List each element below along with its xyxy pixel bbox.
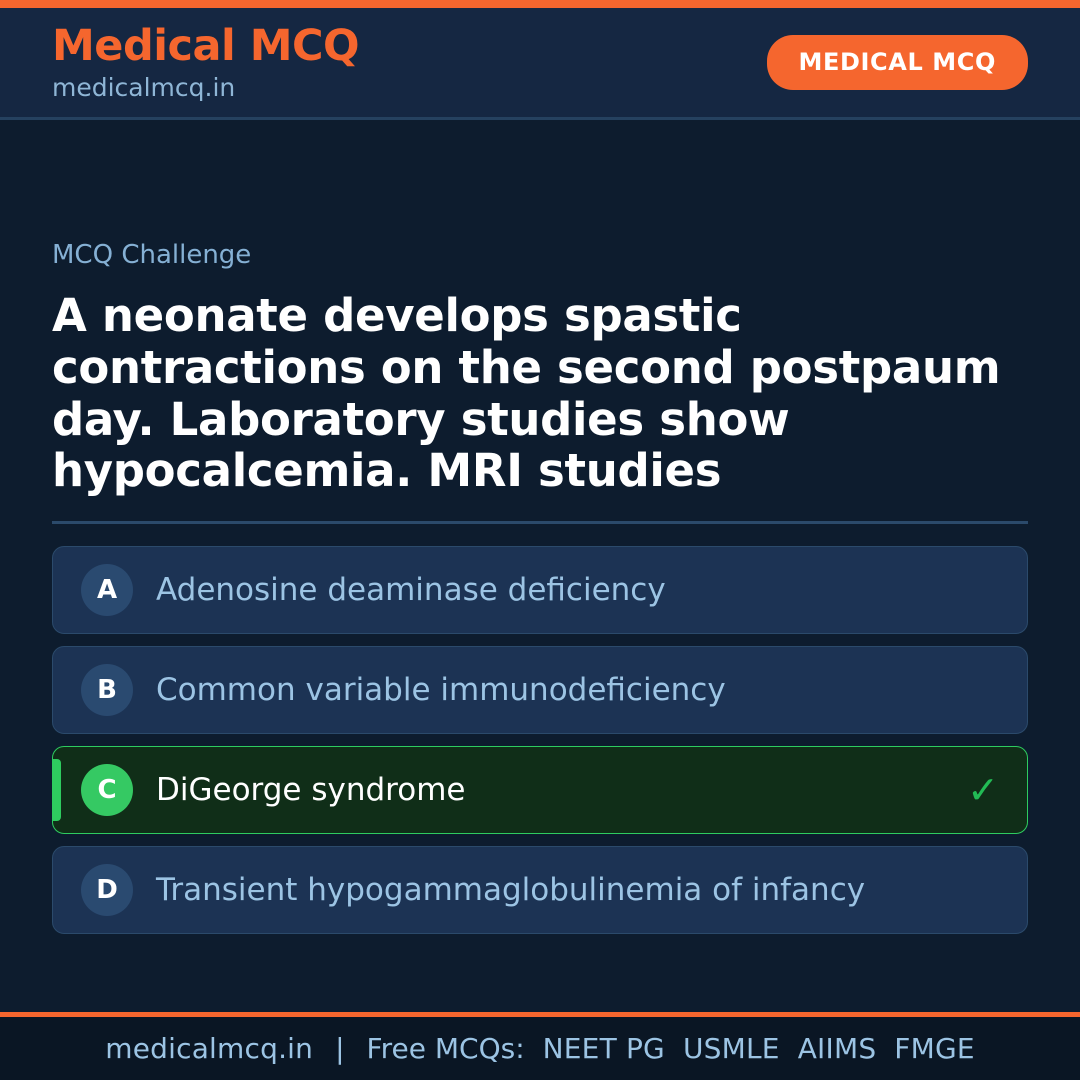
footer-separator: | (313, 1032, 366, 1065)
brand-url: medicalmcq.in (52, 75, 359, 100)
options-list: A Adenosine deaminase deficiency B Commo… (52, 546, 1028, 934)
footer-site[interactable]: medicalmcq.in (105, 1032, 313, 1065)
option-d[interactable]: D Transient hypogammaglobulinemia of inf… (52, 846, 1028, 934)
option-label: Transient hypogammaglobulinemia of infan… (156, 873, 865, 907)
footer-exam-list: NEET PG USMLE AIIMS FMGE (543, 1032, 975, 1065)
footer-exam-usmle: USMLE (683, 1032, 780, 1065)
brand-title: Medical MCQ (52, 25, 359, 68)
option-b[interactable]: B Common variable immunodeficiency (52, 646, 1028, 734)
check-icon: ✓ (967, 771, 999, 809)
brand-block: Medical MCQ medicalmcq.in (52, 25, 359, 100)
footer-exam-neet-pg: NEET PG (543, 1032, 665, 1065)
header: Medical MCQ medicalmcq.in MEDICAL MCQ (0, 8, 1080, 120)
question-text: A neonate develops spastic contractions … (52, 290, 1028, 497)
option-letter-badge: D (81, 864, 133, 916)
option-letter-badge: A (81, 564, 133, 616)
option-c[interactable]: C DiGeorge syndrome ✓ (52, 746, 1028, 834)
footer: medicalmcq.in | Free MCQs: NEET PG USMLE… (0, 1017, 1080, 1080)
option-label: Common variable immunodeficiency (156, 673, 726, 707)
option-letter-badge: B (81, 664, 133, 716)
main-content: MCQ Challenge A neonate develops spastic… (0, 120, 1080, 1012)
correct-accent-bar (53, 759, 61, 821)
option-label: DiGeorge syndrome (156, 773, 465, 807)
mcq-card: Medical MCQ medicalmcq.in MEDICAL MCQ MC… (0, 0, 1080, 1080)
footer-label: Free MCQs: (367, 1032, 525, 1065)
option-letter-badge: C (81, 764, 133, 816)
question-divider (52, 521, 1028, 524)
footer-exam-aiims: AIIMS (798, 1032, 877, 1065)
top-accent-bar (0, 0, 1080, 8)
footer-exam-fmge: FMGE (894, 1032, 974, 1065)
kicker-label: MCQ Challenge (52, 242, 1028, 268)
option-a[interactable]: A Adenosine deaminase deficiency (52, 546, 1028, 634)
header-badge: MEDICAL MCQ (767, 35, 1028, 90)
option-label: Adenosine deaminase deficiency (156, 573, 666, 607)
